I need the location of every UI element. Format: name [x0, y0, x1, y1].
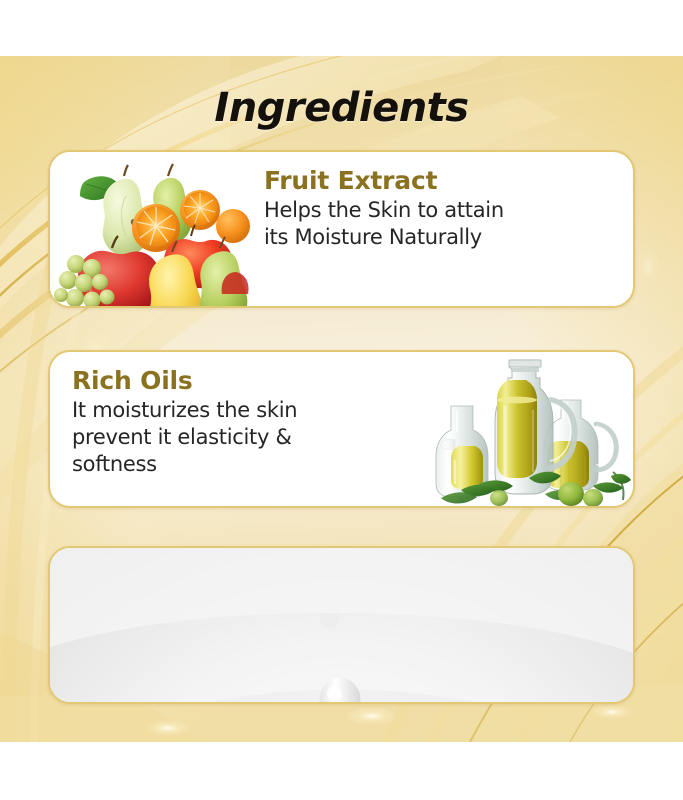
- ingredient-card-rich-oils: Rich Oils It moisturizes the skin preven…: [48, 350, 635, 508]
- card-body-rich-oils: Rich Oils It moisturizes the skin preven…: [50, 352, 433, 506]
- card-heading: Fruit Extract: [264, 168, 617, 194]
- card-heading: Rich Oils: [72, 368, 417, 394]
- olive-oil-bottles-photo: [433, 352, 633, 506]
- card-description: Helps the Skin to attain its Moisture Na…: [264, 197, 617, 251]
- ingredients-poster: Ingredients: [0, 0, 683, 800]
- ingredient-card-cleansing-milk: Cleansing Milk Cleans & moisturizes Skin…: [48, 546, 635, 704]
- ingredient-card-fruit-extract: Fruit Extract Helps the Skin to attain i…: [48, 150, 635, 308]
- fruit-assortment-photo: [50, 152, 250, 306]
- milk-splash-photo: [50, 548, 633, 702]
- card-body-fruit-extract: Fruit Extract Helps the Skin to attain i…: [250, 152, 633, 306]
- page-title: Ingredients: [0, 85, 683, 131]
- card-description: It moisturizes the skin prevent it elast…: [72, 397, 417, 478]
